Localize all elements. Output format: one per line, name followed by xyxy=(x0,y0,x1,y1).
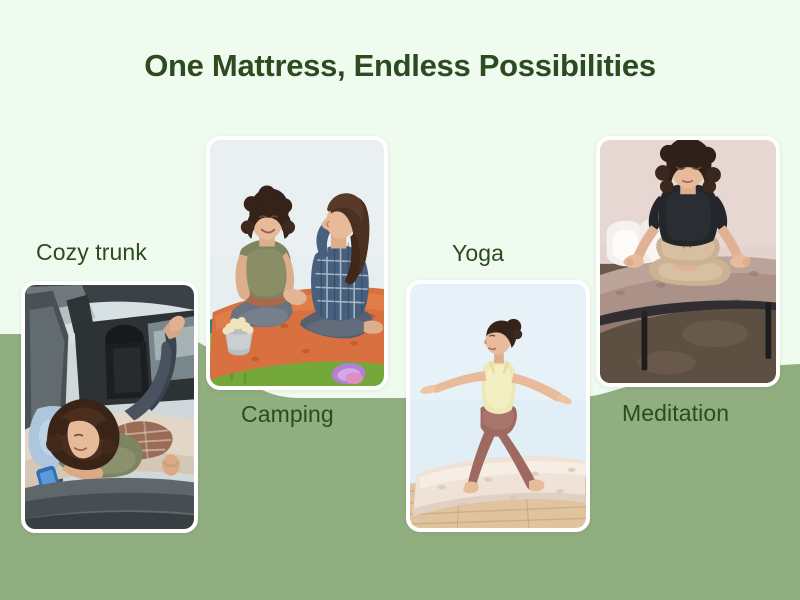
card-yoga[interactable] xyxy=(406,280,590,532)
card-camping[interactable] xyxy=(206,136,388,390)
photo-meditation xyxy=(600,140,776,383)
label-camping: Camping xyxy=(241,401,334,428)
photo-cozy-trunk xyxy=(25,285,194,529)
label-cozy-trunk: Cozy trunk xyxy=(36,239,147,266)
card-cozy-trunk[interactable] xyxy=(21,281,198,533)
label-yoga: Yoga xyxy=(452,240,504,267)
promo-graphic: One Mattress, Endless Possibilities xyxy=(0,0,800,600)
card-meditation[interactable] xyxy=(596,136,780,387)
photo-yoga xyxy=(410,284,586,528)
label-meditation: Meditation xyxy=(622,400,729,427)
page-title: One Mattress, Endless Possibilities xyxy=(0,48,800,84)
photo-camping xyxy=(210,140,384,386)
